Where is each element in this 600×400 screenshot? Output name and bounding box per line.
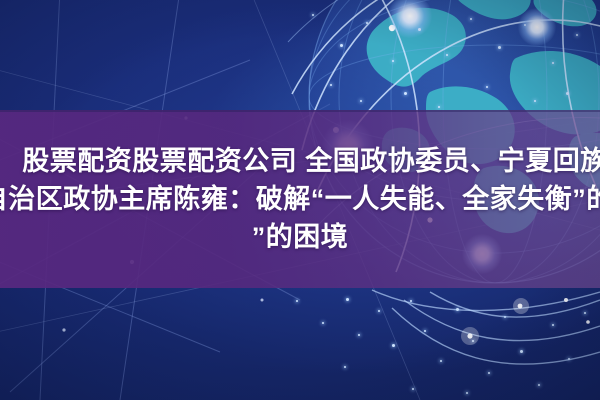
headline-line-3: ”的困境	[252, 218, 349, 256]
thumbnail-canvas: 股票配资股票配资公司 全国政协委员、宁夏回族 自治区政协主席陈雍：破解“一人失能…	[0, 0, 600, 400]
headline-line-2: 自治区政协主席陈雍：破解“一人失能、全家失衡”的困	[0, 180, 600, 218]
headline-line-1: 股票配资股票配资公司 全国政协委员、宁夏回族	[22, 142, 600, 180]
headline-text: 股票配资股票配资公司 全国政协委员、宁夏回族 自治区政协主席陈雍：破解“一人失能…	[0, 110, 600, 288]
